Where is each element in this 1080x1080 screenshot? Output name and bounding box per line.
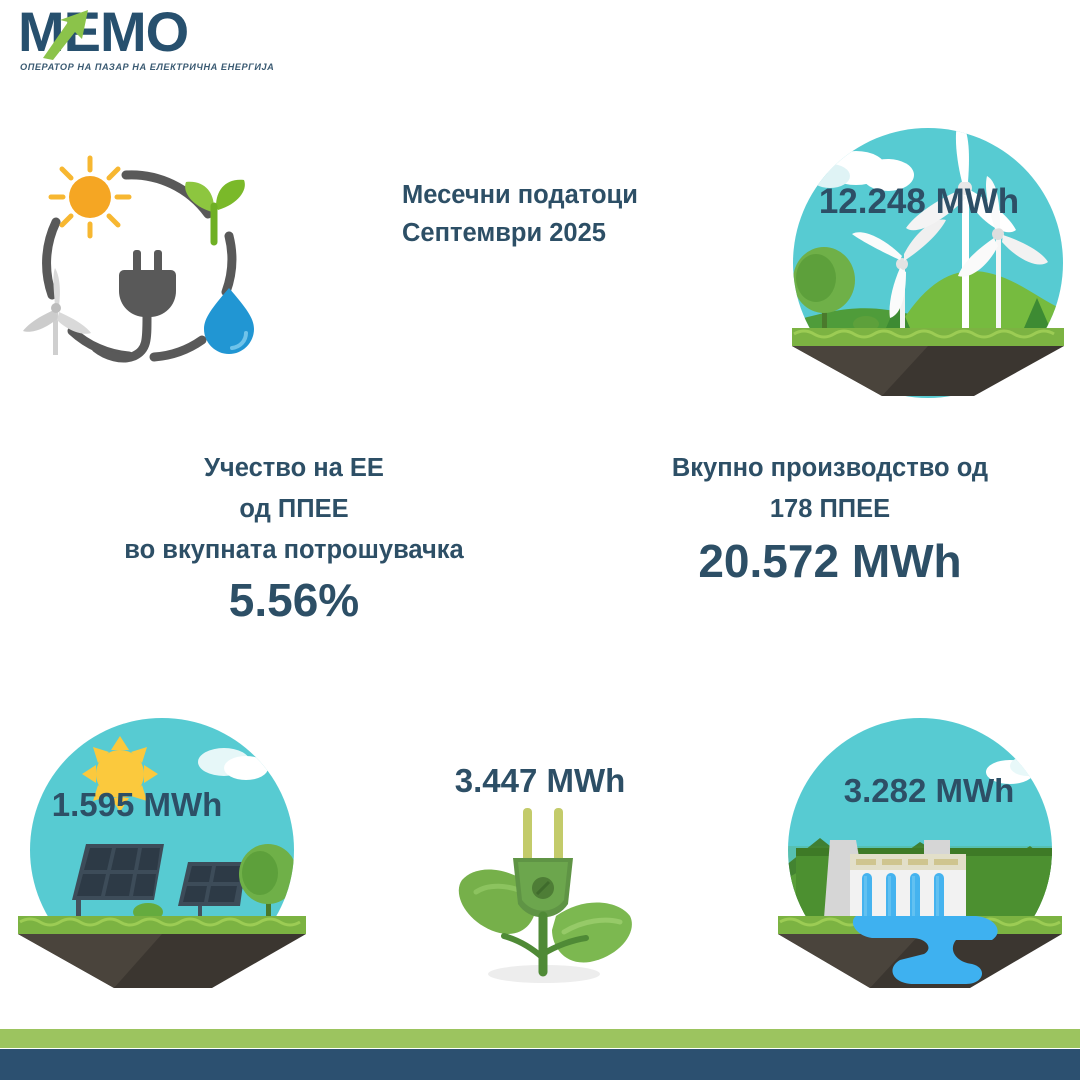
hydro-production-card: 3.282 MWh — [760, 718, 1080, 990]
plug-icon — [96, 250, 176, 358]
footer-blue-bar — [0, 1049, 1080, 1080]
sun-icon — [51, 158, 129, 236]
green-plug-plant-illustration — [440, 808, 650, 988]
stat-share-of-consumption: Учество на ЕЕ од ППЕЕ во вкупната потрош… — [34, 448, 554, 627]
total-label-line-1: Вкупно производство од — [620, 448, 1040, 489]
page-title: Месечни податоци Септември 2025 — [402, 176, 742, 252]
hydro-dam-illustration — [760, 718, 1080, 990]
footer-green-bar — [0, 1029, 1080, 1048]
solar-farm-illustration — [2, 718, 322, 990]
sprout-icon — [185, 180, 245, 242]
brand-logo: MEMO ОПЕРАТОР НА ПАЗАР НА ЕЛЕКТРИЧНА ЕНЕ… — [10, 4, 240, 76]
stat-total-production: Вкупно производство од 178 ППЕЕ 20.572 M… — [620, 448, 1040, 588]
solar-value: 1.595 MWh — [2, 788, 272, 821]
wind-production-card: 12.248 MWh — [778, 128, 1078, 398]
share-label-line-2: од ППЕЕ — [34, 489, 554, 530]
wind-farm-illustration — [778, 128, 1078, 398]
total-value: 20.572 MWh — [620, 536, 1040, 588]
header-line-1: Месечни податоци — [402, 176, 742, 214]
share-label-line-3: во вкупната потрошувачка — [34, 530, 554, 571]
share-value: 5.56% — [34, 575, 554, 627]
brand-tagline: ОПЕРАТОР НА ПАЗАР НА ЕЛЕКТРИЧНА ЕНЕРГИЈА — [20, 62, 274, 72]
water-drop-icon — [204, 288, 254, 354]
total-label-line-2: 178 ППЕЕ — [620, 489, 1040, 530]
biomass-production-card: 3.447 MWh — [440, 808, 650, 988]
header-line-2: Септември 2025 — [402, 214, 742, 252]
solar-production-card: 1.595 MWh — [2, 718, 322, 990]
renewable-cycle-icon — [14, 140, 274, 380]
share-label-line-1: Учество на ЕЕ — [34, 448, 554, 489]
biomass-value: 3.447 MWh — [440, 764, 640, 797]
wind-value: 12.248 MWh — [778, 184, 1060, 219]
hydro-value: 3.282 MWh — [794, 774, 1064, 807]
brand-wordmark: MEMO — [18, 4, 188, 60]
